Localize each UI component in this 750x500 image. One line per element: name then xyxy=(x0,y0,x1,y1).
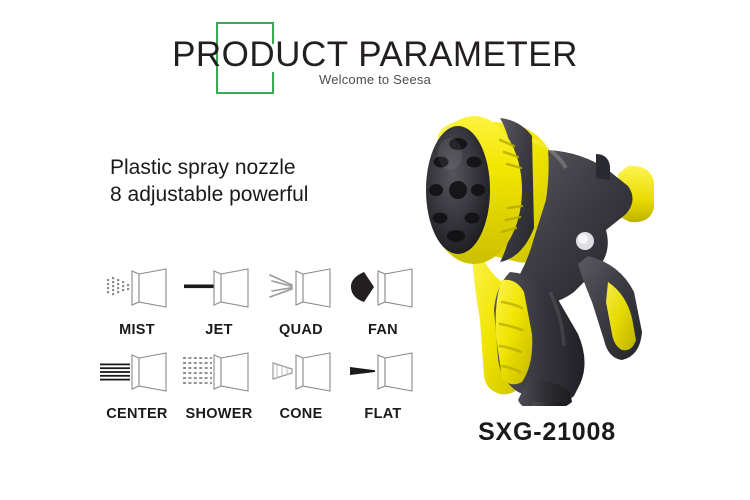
spray-mode-label: CENTER xyxy=(106,406,167,422)
spray-mode-label: SHOWER xyxy=(185,406,252,422)
spray-mode-label: JET xyxy=(205,322,233,338)
spray-mode-label: MIST xyxy=(119,322,155,338)
spray-mode-shower: SHOWER xyxy=(178,346,260,422)
spray-mode-center: CENTER xyxy=(96,346,178,422)
page-title: PRODUCT PARAMETER xyxy=(0,35,750,75)
spray-mode-grid: MIST JET xyxy=(96,262,426,430)
jet-icon xyxy=(180,262,258,320)
cone-icon xyxy=(262,346,340,404)
spray-mode-label: QUAD xyxy=(279,322,323,338)
spray-mode-cone: CONE xyxy=(260,346,342,422)
product-description: Plastic spray nozzle 8 adjustable powerf… xyxy=(110,154,308,208)
hinge-tab xyxy=(596,154,610,180)
hose-connector-collar xyxy=(532,402,562,406)
product-image xyxy=(382,96,712,406)
mist-icon xyxy=(98,262,176,320)
spray-mode-mist: MIST xyxy=(96,262,178,338)
product-parameter-banner: PRODUCT PARAMETER Welcome to Seesa Plast… xyxy=(0,0,750,500)
center-icon xyxy=(98,346,176,404)
description-line-2: 8 adjustable powerful xyxy=(110,181,308,208)
page-subtitle: Welcome to Seesa xyxy=(0,72,750,87)
model-number: SXG-21008 xyxy=(382,418,712,447)
spray-mode-label: CONE xyxy=(279,406,322,422)
spray-mode-jet: JET xyxy=(178,262,260,338)
description-line-1: Plastic spray nozzle xyxy=(110,154,308,181)
quad-icon xyxy=(262,262,340,320)
spray-mode-row: CENTER SHOWER xyxy=(96,346,426,422)
shower-icon xyxy=(180,346,258,404)
spray-mode-quad: QUAD xyxy=(260,262,342,338)
spray-mode-row: MIST JET xyxy=(96,262,426,338)
